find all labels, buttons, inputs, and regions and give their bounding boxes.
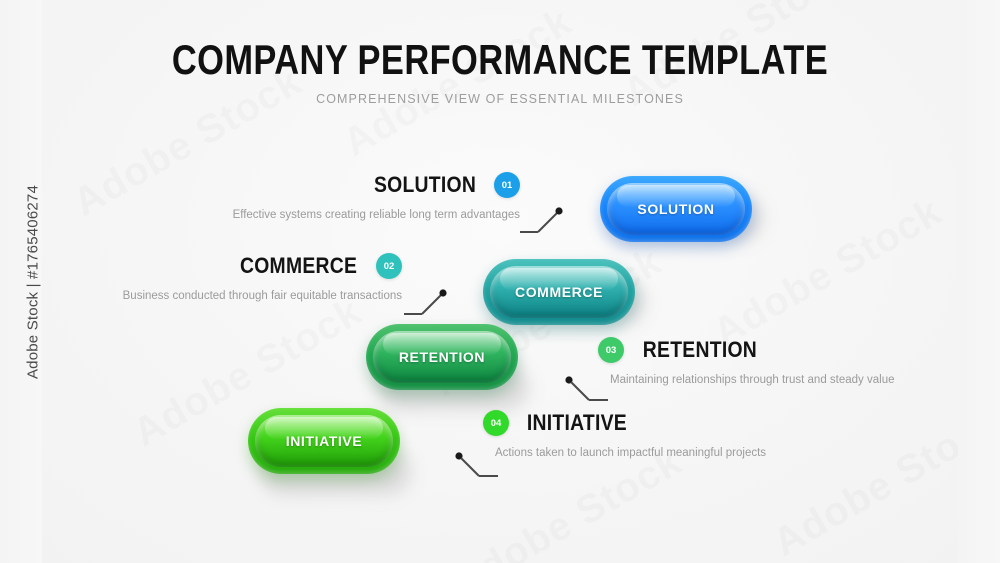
pill-retention[interactable]: RETENTION (366, 324, 518, 390)
step-description-solution: Effective systems creating reliable long… (198, 207, 520, 225)
step-title-solution: SOLUTION (374, 172, 476, 198)
step-title-commerce: COMMERCE (240, 253, 357, 279)
step-title-retention: RETENTION (643, 337, 757, 363)
pill-label-commerce: COMMERCE (515, 284, 603, 300)
connector-line-02 (402, 286, 450, 320)
step-heading-row: COMMERCE 02 (92, 253, 402, 279)
header: COMPANY PERFORMANCE TEMPLATE COMPREHENSI… (0, 38, 1000, 106)
step-badge-04: 04 (483, 410, 509, 436)
page-subtitle: COMPREHENSIVE VIEW OF ESSENTIAL MILESTON… (0, 92, 1000, 106)
pill-commerce[interactable]: COMMERCE (483, 259, 635, 325)
step-badge-02: 02 (376, 253, 402, 279)
stock-watermark-label: Adobe Stock | #1765406274 (25, 152, 42, 412)
step-block-commerce: COMMERCE 02 Business conducted through f… (92, 253, 402, 306)
step-badge-03: 03 (598, 337, 624, 363)
step-description-commerce: Business conducted through fair equitabl… (92, 288, 402, 306)
step-badge-01: 01 (494, 172, 520, 198)
step-title-initiative: INITIATIVE (527, 410, 627, 436)
page-title: COMPANY PERFORMANCE TEMPLATE (90, 38, 910, 82)
pill-initiative[interactable]: INITIATIVE (248, 408, 400, 474)
step-heading-row: SOLUTION 01 (198, 172, 520, 198)
pill-label-retention: RETENTION (399, 349, 485, 365)
step-description-retention: Maintaining relationships through trust … (610, 372, 898, 390)
step-heading-row: 04 INITIATIVE (483, 410, 783, 436)
pill-label-initiative: INITIATIVE (286, 433, 363, 449)
step-heading-row: 03 RETENTION (598, 337, 898, 363)
connector-line-01 (518, 204, 566, 238)
pill-solution[interactable]: SOLUTION (600, 176, 752, 242)
step-block-retention: 03 RETENTION Maintaining relationships t… (598, 337, 898, 390)
step-block-solution: SOLUTION 01 Effective systems creating r… (198, 172, 520, 225)
step-block-initiative: 04 INITIATIVE Actions taken to launch im… (483, 410, 783, 463)
pill-label-solution: SOLUTION (637, 201, 714, 217)
step-description-initiative: Actions taken to launch impactful meanin… (495, 445, 783, 463)
infographic-canvas: Adobe Stock Adobe Stock Adobe Stock Adob… (0, 0, 1000, 563)
